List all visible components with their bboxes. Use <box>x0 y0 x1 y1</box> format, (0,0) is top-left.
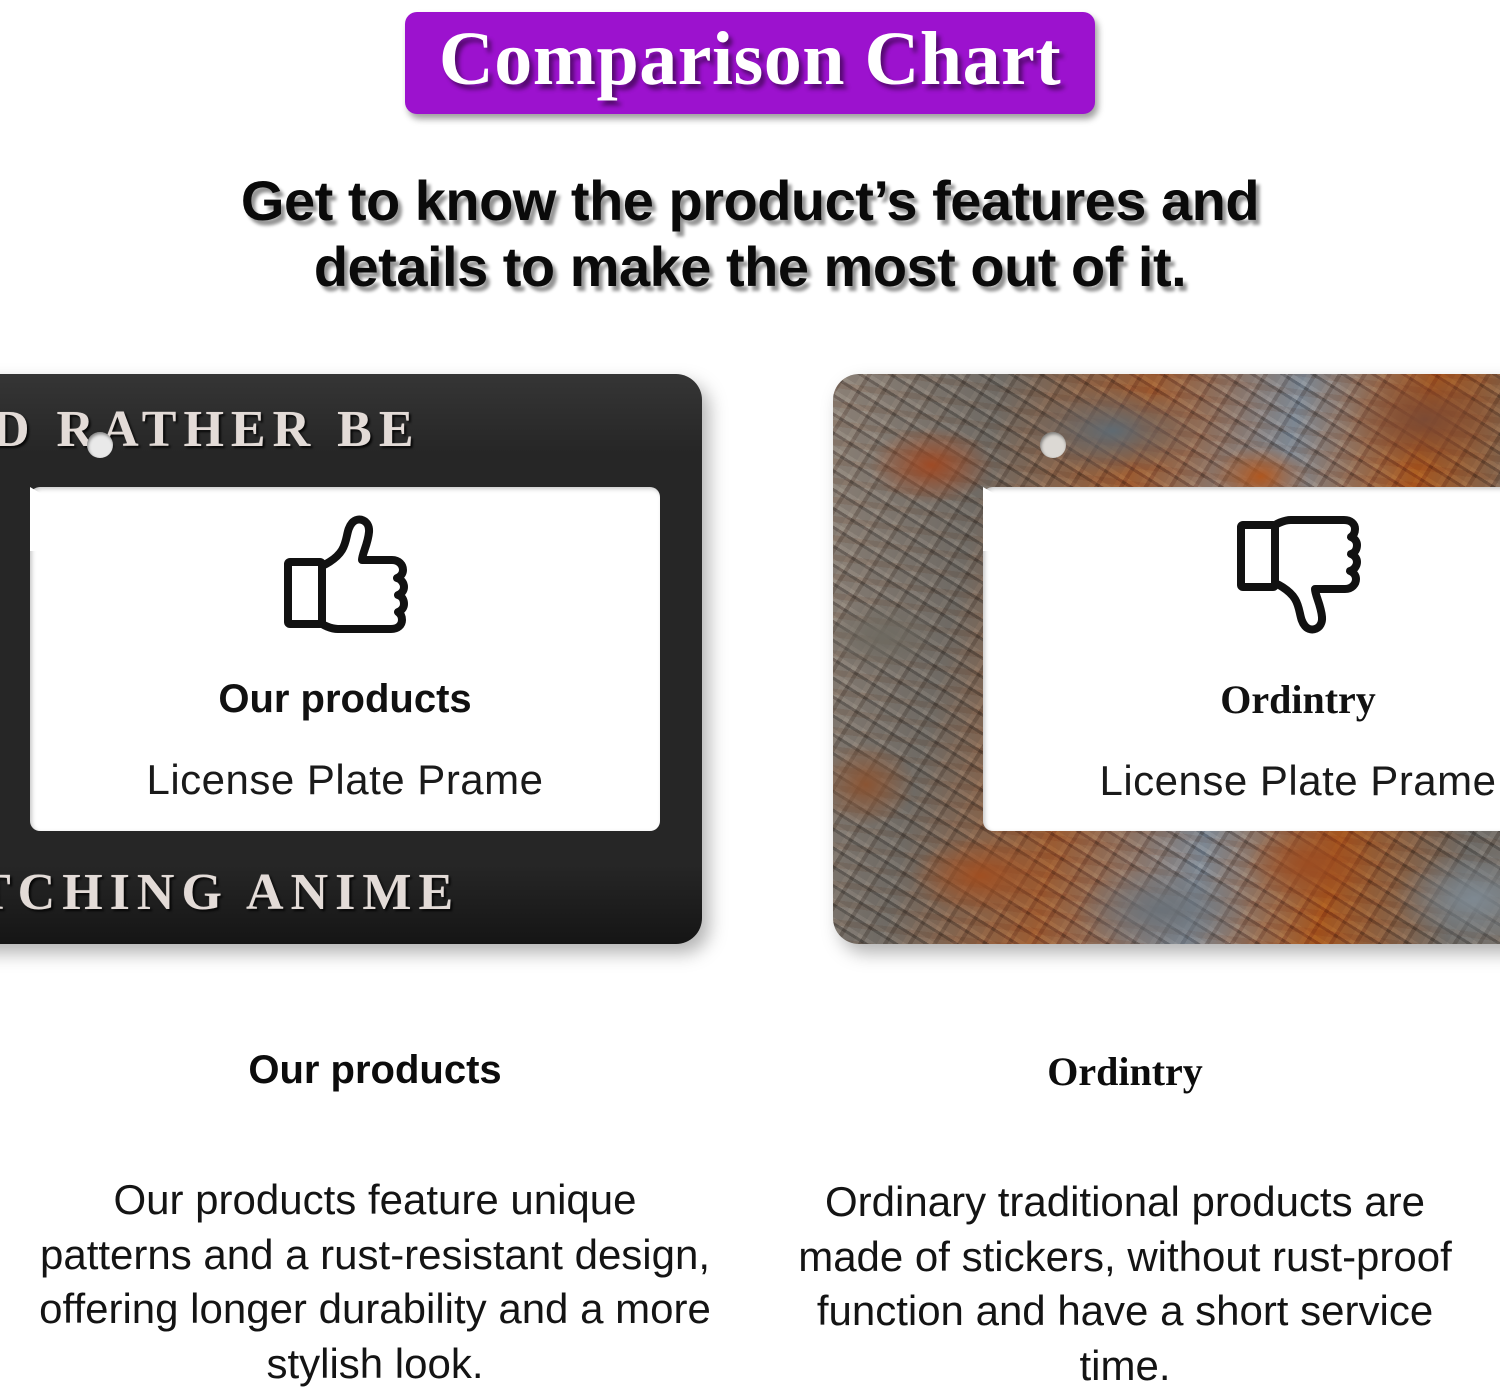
column-body-text: Ordinary traditional products are made o… <box>786 1175 1464 1393</box>
title-banner: Comparison Chart <box>405 12 1095 114</box>
plate-subheading: License Plate Prame <box>146 756 543 804</box>
product-frames-row: D RATHER BE TCHING ANIME Our products Li… <box>0 374 1500 944</box>
subtitle-line-1: Get to know the product’s features and <box>0 168 1500 234</box>
comparison-columns: Our products Our products feature unique… <box>0 1020 1500 1364</box>
frame-body-rusted: Ordintry License Plate Prame <box>833 374 1500 944</box>
title-banner-wrapper: Comparison Chart <box>0 12 1500 114</box>
page-subtitle: Get to know the product’s features and d… <box>0 168 1500 300</box>
plate-subheading: License Plate Prame <box>1099 757 1496 805</box>
plate-heading: Ordintry <box>1220 676 1376 723</box>
product-frame-ordinary: Ordintry License Plate Prame <box>833 374 1500 944</box>
mounting-hole <box>1040 432 1066 458</box>
plate-content: Our products License Plate Prame <box>30 487 660 831</box>
thumbs-up-icon <box>280 514 410 641</box>
product-frame-ours: D RATHER BE TCHING ANIME Our products Li… <box>0 374 702 944</box>
comparison-column-ordinary: Ordintry Ordinary traditional products a… <box>750 1020 1500 1364</box>
thumbs-down-icon <box>1233 513 1363 640</box>
mounting-hole <box>87 432 113 458</box>
frame-slogan-bottom: TCHING ANIME <box>0 863 702 922</box>
plate-heading: Our products <box>218 677 471 722</box>
frame-body-black: D RATHER BE TCHING ANIME Our products Li… <box>0 374 702 944</box>
plate-content: Ordintry License Plate Prame <box>983 487 1500 831</box>
plate-aperture: Our products License Plate Prame <box>30 487 660 831</box>
column-heading: Ordintry <box>786 1048 1464 1095</box>
comparison-column-ours: Our products Our products feature unique… <box>0 1020 750 1364</box>
column-heading: Our products <box>36 1048 714 1093</box>
column-body-text: Our products feature unique patterns and… <box>36 1173 714 1391</box>
subtitle-line-2: details to make the most out of it. <box>0 234 1500 300</box>
page-title: Comparison Chart <box>439 18 1061 100</box>
plate-aperture: Ordintry License Plate Prame <box>983 487 1500 831</box>
